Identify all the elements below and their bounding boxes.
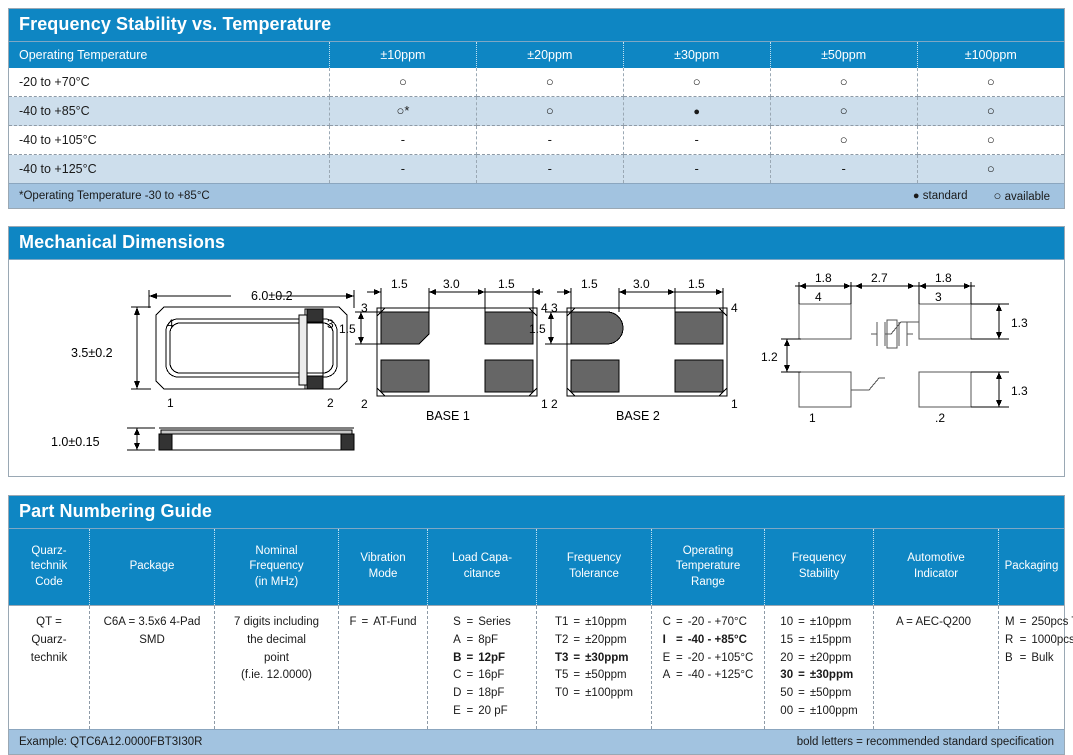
kv-e: =: [466, 667, 478, 685]
kv-k: T3: [555, 650, 573, 668]
pin-label-land-4: 4: [815, 290, 822, 304]
column-header-packaging: Packaging: [999, 529, 1065, 606]
kv-k: 30: [780, 667, 798, 685]
kv-k: D: [453, 685, 466, 703]
kv-list-packaging: M=250pcs Tape&ReelR=1000pcs Tape&ReelB=B…: [1005, 614, 1073, 667]
dim-land-1-3-bottom: 1.3: [1011, 384, 1028, 398]
legend: ● standard ○ available: [913, 189, 1054, 203]
cell-packaging: M=250pcs Tape&ReelR=1000pcs Tape&ReelB=B…: [999, 606, 1065, 729]
kv-v: ±20ppm: [585, 632, 633, 650]
kv-k: F: [350, 614, 362, 632]
mechanical-drawings-area: 6.0±0.2 3.5±0.2 1.0±0.15 4 3 1 2 1.5 3.0…: [9, 260, 1064, 476]
kv-v: 20 pF: [478, 703, 511, 721]
kv-e: =: [466, 650, 478, 668]
column-header-50ppm: ±50ppm: [770, 42, 917, 68]
kv-k: 20: [780, 650, 798, 668]
kv-k: T2: [555, 632, 573, 650]
dim-base2-left: 1.5: [581, 277, 598, 291]
cell-mark: ○: [917, 68, 1064, 97]
kv-e: =: [798, 632, 810, 650]
cell-operating-temperature-range: C=-20 - +70°CI=-40 - +85°CE=-20 - +105°C…: [652, 606, 765, 729]
kv-v: ±50ppm: [585, 667, 633, 685]
availability-mark: -: [695, 161, 699, 176]
availability-mark: ●: [693, 106, 700, 118]
pin-label-base2-1: 1: [731, 397, 738, 411]
value-line: (f.ie. 12.0000): [221, 667, 332, 685]
row-label: -40 to +125°C: [9, 155, 330, 184]
kv-k: A: [453, 632, 466, 650]
kv-row: T0=±100ppm: [555, 685, 633, 703]
cell-mark: ○: [770, 97, 917, 126]
cell-frequency-tolerance: T1=±10ppmT2=±20ppmT3=±30ppmT5=±50ppmT0=±…: [537, 606, 652, 729]
availability-mark: -: [548, 161, 552, 176]
kv-text: A = AEC-Q200: [896, 614, 976, 632]
base2-drawing: [545, 288, 727, 396]
pin-label-base1-4: 4: [541, 301, 548, 315]
frequency-stability-table: Operating Temperature ±10ppm ±20ppm ±30p…: [9, 42, 1064, 183]
pin-label-land-3: 3: [935, 290, 942, 304]
kv-row: A = AEC-Q200: [896, 614, 976, 632]
cell-frequency-stability: 10=±10ppm15=±15ppm20=±20ppm30=±30ppm50=±…: [765, 606, 874, 729]
cell-mark: -: [476, 155, 623, 184]
column-header-operating-temperature-range: OperatingTemperatureRange: [652, 529, 765, 606]
cell-automotive-indicator: A = AEC-Q200: [874, 606, 999, 729]
kv-row: 20=±20ppm: [780, 650, 857, 668]
kv-row: 30=±30ppm: [780, 667, 857, 685]
column-header-10ppm: ±10ppm: [330, 42, 477, 68]
table-row: -40 to +105°C - - - ○ ○: [9, 126, 1064, 155]
kv-e: =: [1020, 632, 1032, 650]
header-line-3: Code: [35, 576, 63, 588]
kv-row: 50=±50ppm: [780, 685, 857, 703]
kv-k: 15: [780, 632, 798, 650]
cell-mark: ○: [476, 68, 623, 97]
kv-row: C=16pF: [453, 667, 511, 685]
dim-top-view-thickness: 1.0±0.15: [51, 435, 100, 449]
table-header-row: Operating Temperature ±10ppm ±20ppm ±30p…: [9, 42, 1064, 68]
kv-row: A=-40 - +125°C: [663, 667, 754, 685]
top-view-drawing: [127, 290, 354, 450]
pin-label-topview-3: 3: [327, 317, 334, 331]
footnote-text: *Operating Temperature -30 to +85°C: [19, 190, 913, 202]
column-header-automotive-indicator: AutomotiveIndicator: [874, 529, 999, 606]
part-numbering-guide-panel: Part Numbering Guide Quarz-technikCode P…: [8, 495, 1065, 755]
kv-v: ±100ppm: [585, 685, 633, 703]
column-header-frequency-stability: FrequencyStability: [765, 529, 874, 606]
caption-base2: BASE 2: [616, 409, 660, 423]
kv-v: ±20ppm: [810, 650, 858, 668]
kv-e: =: [676, 650, 688, 668]
mechanical-dimensions-title: Mechanical Dimensions: [9, 227, 1064, 260]
kv-e: =: [466, 614, 478, 632]
column-header-operating-temperature: Operating Temperature: [9, 42, 330, 68]
kv-row: B=Bulk: [1005, 650, 1073, 668]
mechanical-dimensions-panel: Mechanical Dimensions: [8, 226, 1065, 477]
column-header-vibration-mode: VibrationMode: [339, 529, 428, 606]
pin-label-base1-2: 2: [361, 397, 368, 411]
kv-v: 16pF: [478, 667, 511, 685]
column-header-20ppm: ±20ppm: [476, 42, 623, 68]
value-line: the decimal: [221, 632, 332, 650]
availability-mark: -: [548, 132, 552, 147]
cell-mark: ●: [623, 97, 770, 126]
availability-mark: ○: [840, 103, 848, 118]
dim-base1-right: 1.5: [498, 277, 515, 291]
cell-mark: ○: [917, 126, 1064, 155]
value-line: Quarz-: [15, 632, 83, 650]
cell-package: C6A = 3.5x6 4-Pad SMD: [90, 606, 215, 729]
bold-letters-note: bold letters = recommended standard spec…: [797, 736, 1054, 748]
caption-base1: BASE 1: [426, 409, 470, 423]
availability-mark: ○: [987, 132, 995, 147]
kv-k: A: [663, 667, 676, 685]
kv-row: R=1000pcs Tape&Reel: [1005, 632, 1073, 650]
cell-load-capacitance: S=SeriesA=8pFB=12pFC=16pFD=18pFE=20 pF: [428, 606, 537, 729]
kv-e: =: [362, 614, 374, 632]
table-row: -40 to +85°C ○* ○ ● ○ ○: [9, 97, 1064, 126]
kv-v: ±15ppm: [810, 632, 858, 650]
availability-mark: ○: [840, 74, 848, 89]
frequency-stability-panel: Frequency Stability vs. Temperature Oper…: [8, 8, 1065, 209]
cell-nominal-frequency: 7 digits including the decimal point (f.…: [215, 606, 339, 729]
kv-k: C: [453, 667, 466, 685]
column-header-frequency-tolerance: FrequencyTolerance: [537, 529, 652, 606]
kv-list-tolerance: T1=±10ppmT2=±20ppmT3=±30ppmT5=±50ppmT0=±…: [555, 614, 633, 703]
dim-base1-left: 1.5: [391, 277, 408, 291]
kv-v: 1000pcs Tape&Reel: [1031, 632, 1073, 650]
cell-quarztechnik-code: QT = Quarz- technik: [9, 606, 90, 729]
cell-mark: -: [476, 126, 623, 155]
part-numbering-table: Quarz-technikCode Package NominalFrequen…: [9, 529, 1064, 729]
kv-v: 250pcs Tape&Reel: [1031, 614, 1073, 632]
kv-k: C: [663, 614, 676, 632]
value-line: point: [221, 650, 332, 668]
kv-v: -20 - +70°C: [688, 614, 754, 632]
availability-mark: ○: [399, 74, 407, 89]
availability-mark: ○: [840, 132, 848, 147]
kv-v: ±100ppm: [810, 703, 858, 721]
cell-mark: ○: [917, 97, 1064, 126]
kv-e: =: [573, 614, 585, 632]
kv-e: =: [798, 703, 810, 721]
table-row: QT = Quarz- technik C6A = 3.5x6 4-Pad SM…: [9, 606, 1064, 729]
kv-e: =: [1020, 614, 1032, 632]
kv-v: AT-Fund: [373, 614, 416, 632]
kv-k: E: [663, 650, 676, 668]
value-line: C6A = 3.5x6 4-Pad: [96, 614, 208, 632]
kv-v: -20 - +105°C: [688, 650, 754, 668]
kv-e: =: [466, 685, 478, 703]
row-label: -40 to +105°C: [9, 126, 330, 155]
availability-mark: ○: [693, 74, 701, 89]
dim-base1-center: 3.0: [443, 277, 460, 291]
value-line: 7 digits including: [221, 614, 332, 632]
kv-list-vibration: F=AT-Fund: [350, 614, 417, 632]
kv-k: T0: [555, 685, 573, 703]
dim-land-1-8-right: 1.8: [935, 271, 952, 285]
kv-list-load-cap: S=SeriesA=8pFB=12pFC=16pFD=18pFE=20 pF: [453, 614, 511, 721]
kv-list-stability: 10=±10ppm15=±15ppm20=±20ppm30=±30ppm50=±…: [780, 614, 857, 721]
kv-k: 10: [780, 614, 798, 632]
dim-land-1-3-top: 1.3: [1011, 316, 1028, 330]
kv-e: =: [676, 667, 688, 685]
availability-mark: -: [401, 132, 405, 147]
kv-list-optemp: C=-20 - +70°CI=-40 - +85°CE=-20 - +105°C…: [663, 614, 754, 685]
dim-land-2-7: 2.7: [871, 271, 888, 285]
column-header-30ppm: ±30ppm: [623, 42, 770, 68]
kv-k: S: [453, 614, 466, 632]
kv-row: T2=±20ppm: [555, 632, 633, 650]
part-numbering-footer: Example: QTC6A12.0000FBT3I30R bold lette…: [9, 729, 1064, 754]
kv-k: T1: [555, 614, 573, 632]
value-line: SMD: [96, 632, 208, 650]
kv-k: 50: [780, 685, 798, 703]
kv-v: ±10ppm: [810, 614, 858, 632]
table-row: -40 to +125°C - - - - ○: [9, 155, 1064, 184]
kv-e: =: [573, 650, 585, 668]
pin-label-base2-2: 2: [551, 397, 558, 411]
kv-k: B: [1005, 650, 1020, 668]
kv-row: M=250pcs Tape&Reel: [1005, 614, 1073, 632]
column-header-package: Package: [90, 529, 215, 606]
datasheet-page: Frequency Stability vs. Temperature Oper…: [0, 8, 1073, 742]
dim-base2-vertical: 1.5: [529, 322, 546, 336]
kv-v: -40 - +85°C: [688, 632, 754, 650]
base1-drawing: [355, 288, 543, 396]
kv-e: =: [676, 632, 688, 650]
filled-circle-icon: ●: [913, 190, 920, 202]
availability-mark: -: [401, 161, 405, 176]
pin-label-base1-3: 3: [361, 301, 368, 315]
kv-k: M: [1005, 614, 1020, 632]
cell-mark: -: [770, 155, 917, 184]
pin-label-land-1: 1: [809, 411, 816, 425]
pin-label-topview-4: 4: [167, 317, 174, 331]
pin-label-base2-4: 4: [731, 301, 738, 315]
kv-list-automotive: A = AEC-Q200: [896, 614, 976, 632]
kv-e: =: [1020, 650, 1032, 668]
cell-mark: ○: [917, 155, 1064, 184]
availability-mark: ○: [546, 74, 554, 89]
kv-row: S=Series: [453, 614, 511, 632]
kv-v: Bulk: [1031, 650, 1073, 668]
availability-mark: -: [695, 132, 699, 147]
frequency-stability-footer: *Operating Temperature -30 to +85°C ● st…: [9, 183, 1064, 208]
column-header-100ppm: ±100ppm: [917, 42, 1064, 68]
availability-mark: ○: [987, 74, 995, 89]
kv-e: =: [798, 667, 810, 685]
kv-v: -40 - +125°C: [688, 667, 754, 685]
kv-k: R: [1005, 632, 1020, 650]
kv-e: =: [466, 632, 478, 650]
kv-v: 8pF: [478, 632, 511, 650]
frequency-stability-title: Frequency Stability vs. Temperature: [9, 9, 1064, 42]
column-header-load-capacitance: Load Capa-citance: [428, 529, 537, 606]
cell-mark: ○: [770, 126, 917, 155]
dim-top-view-height: 3.5±0.2: [71, 346, 113, 360]
kv-k: I: [663, 632, 676, 650]
kv-e: =: [466, 703, 478, 721]
availability-mark: ○*: [396, 103, 409, 118]
kv-e: =: [573, 632, 585, 650]
pin-label-base1-1: 1: [541, 397, 548, 411]
cell-mark: ○: [623, 68, 770, 97]
part-numbering-guide-title: Part Numbering Guide: [9, 496, 1064, 529]
legend-item-available: ○ available: [994, 189, 1050, 203]
legend-item-standard: ● standard: [913, 190, 968, 202]
cell-mark: -: [623, 126, 770, 155]
cell-mark: ○: [330, 68, 477, 97]
row-label: -40 to +85°C: [9, 97, 330, 126]
example-part-number: Example: QTC6A12.0000FBT3I30R: [19, 736, 797, 748]
pin-label-topview-1: 1: [167, 396, 174, 410]
table-header-row: Quarz-technikCode Package NominalFrequen…: [9, 529, 1064, 606]
cell-vibration-mode: F=AT-Fund: [339, 606, 428, 729]
pin-label-base2-3: 3: [551, 301, 558, 315]
kv-row: E=-20 - +105°C: [663, 650, 754, 668]
kv-row: B=12pF: [453, 650, 511, 668]
cell-mark: ○*: [330, 97, 477, 126]
header-line-1: Quarz-: [31, 545, 66, 557]
cell-mark: -: [623, 155, 770, 184]
kv-row: E=20 pF: [453, 703, 511, 721]
kv-k: 00: [780, 703, 798, 721]
kv-row: F=AT-Fund: [350, 614, 417, 632]
table-row: -20 to +70°C ○ ○ ○ ○ ○: [9, 68, 1064, 97]
availability-mark: -: [841, 161, 845, 176]
value-line: technik: [15, 650, 83, 668]
kv-row: T5=±50ppm: [555, 667, 633, 685]
kv-v: ±30ppm: [585, 650, 633, 668]
dim-base2-center: 3.0: [633, 277, 650, 291]
cell-mark: ○: [770, 68, 917, 97]
kv-row: T3=±30ppm: [555, 650, 633, 668]
kv-v: Series: [478, 614, 511, 632]
kv-row: I=-40 - +85°C: [663, 632, 754, 650]
header-line-2: technik: [31, 560, 67, 572]
column-header-nominal-frequency: NominalFrequency(in MHz): [215, 529, 339, 606]
kv-k: B: [453, 650, 466, 668]
kv-e: =: [798, 650, 810, 668]
kv-row: D=18pF: [453, 685, 511, 703]
column-header-quarztechnik-code: Quarz-technikCode: [9, 529, 90, 606]
kv-row: 15=±15ppm: [780, 632, 857, 650]
availability-mark: ○: [987, 161, 995, 176]
dim-top-view-width: 6.0±0.2: [251, 289, 293, 303]
kv-k: E: [453, 703, 466, 721]
dim-land-1-2: 1.2: [761, 350, 778, 364]
kv-e: =: [573, 667, 585, 685]
kv-row: A=8pF: [453, 632, 511, 650]
cell-mark: ○: [476, 97, 623, 126]
kv-e: =: [798, 685, 810, 703]
kv-row: 10=±10ppm: [780, 614, 857, 632]
kv-row: C=-20 - +70°C: [663, 614, 754, 632]
kv-e: =: [798, 614, 810, 632]
availability-mark: ○: [987, 103, 995, 118]
row-label: -20 to +70°C: [9, 68, 330, 97]
pin-label-land-2: .2: [935, 411, 945, 425]
kv-e: =: [573, 685, 585, 703]
pin-label-topview-2: 2: [327, 396, 334, 410]
kv-v: 12pF: [478, 650, 511, 668]
dim-land-1-8-left: 1.8: [815, 271, 832, 285]
cell-mark: -: [330, 155, 477, 184]
value-line: QT =: [15, 614, 83, 632]
kv-v: ±10ppm: [585, 614, 633, 632]
cell-mark: -: [330, 126, 477, 155]
dim-base1-vertical: 1.5: [339, 322, 356, 336]
availability-mark: ○: [546, 103, 554, 118]
kv-k: T5: [555, 667, 573, 685]
kv-row: 00=±100ppm: [780, 703, 857, 721]
kv-row: T1=±10ppm: [555, 614, 633, 632]
kv-v: 18pF: [478, 685, 511, 703]
kv-v: ±30ppm: [810, 667, 858, 685]
legend-label-standard: standard: [923, 190, 968, 202]
kv-e: =: [676, 614, 688, 632]
mechanical-drawings-svg: 6.0±0.2 3.5±0.2 1.0±0.15 4 3 1 2 1.5 3.0…: [9, 260, 1064, 476]
dim-base2-right: 1.5: [688, 277, 705, 291]
legend-label-available: available: [1005, 191, 1050, 203]
open-circle-icon: ○: [994, 188, 1002, 203]
kv-v: ±50ppm: [810, 685, 858, 703]
